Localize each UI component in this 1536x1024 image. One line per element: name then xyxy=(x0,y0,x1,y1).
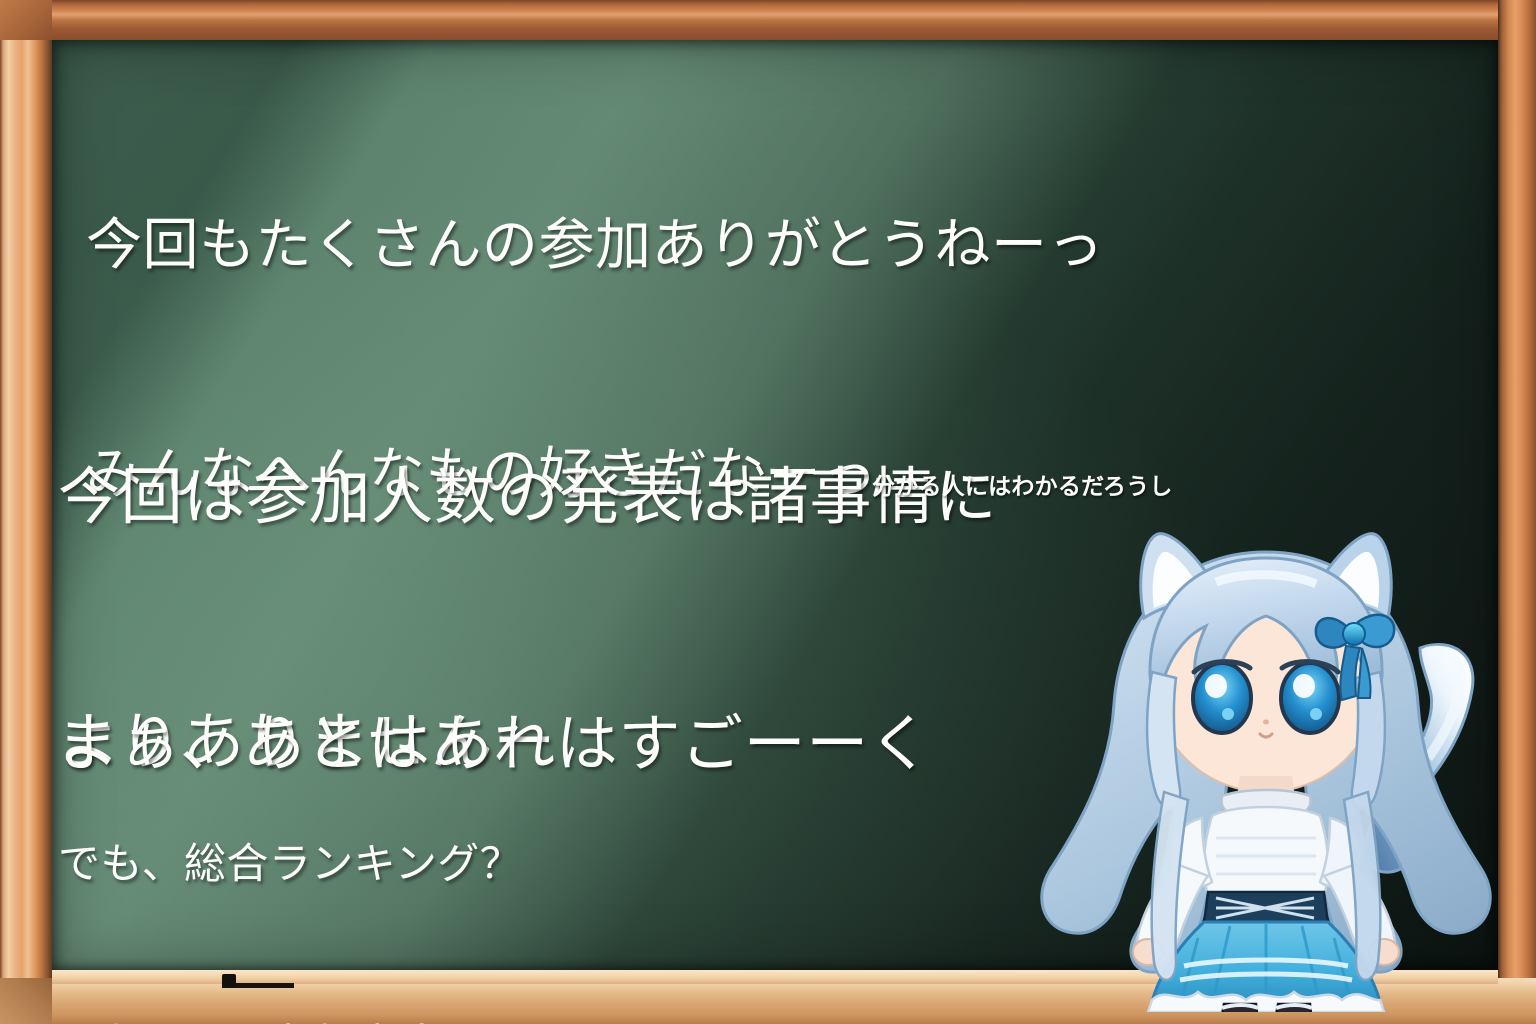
frame-top-rail xyxy=(0,0,1536,40)
frame-left-rail xyxy=(0,0,52,1024)
details-line-1: でも、総合ランキング？ xyxy=(58,834,984,894)
announcement-line-1: 今回は参加人数の発表は諸事情に xyxy=(58,456,997,538)
chalkboard-scene: 今回もたくさんの参加ありがとうねーっ みんなへんなもの好きだなーっ 今回は参加人… xyxy=(0,0,1536,1024)
details-line-2: はちゃんとありますーっ xyxy=(58,1013,984,1024)
frame-corner-bottom-left xyxy=(0,978,52,1024)
details-text-block: でも、総合ランキング？ はちゃんとありますーっ 投稿企画「#へんなたたかい」人気… xyxy=(58,715,984,1024)
frame-corner-top-left xyxy=(0,0,52,40)
aside-note-text: 分かる人にはわかるだろうし xyxy=(872,467,1173,501)
greeting-line-1: 今回もたくさんの参加ありがとうねーっ xyxy=(86,208,1104,284)
chibi-cat-girl-illustration xyxy=(1016,500,1516,1012)
